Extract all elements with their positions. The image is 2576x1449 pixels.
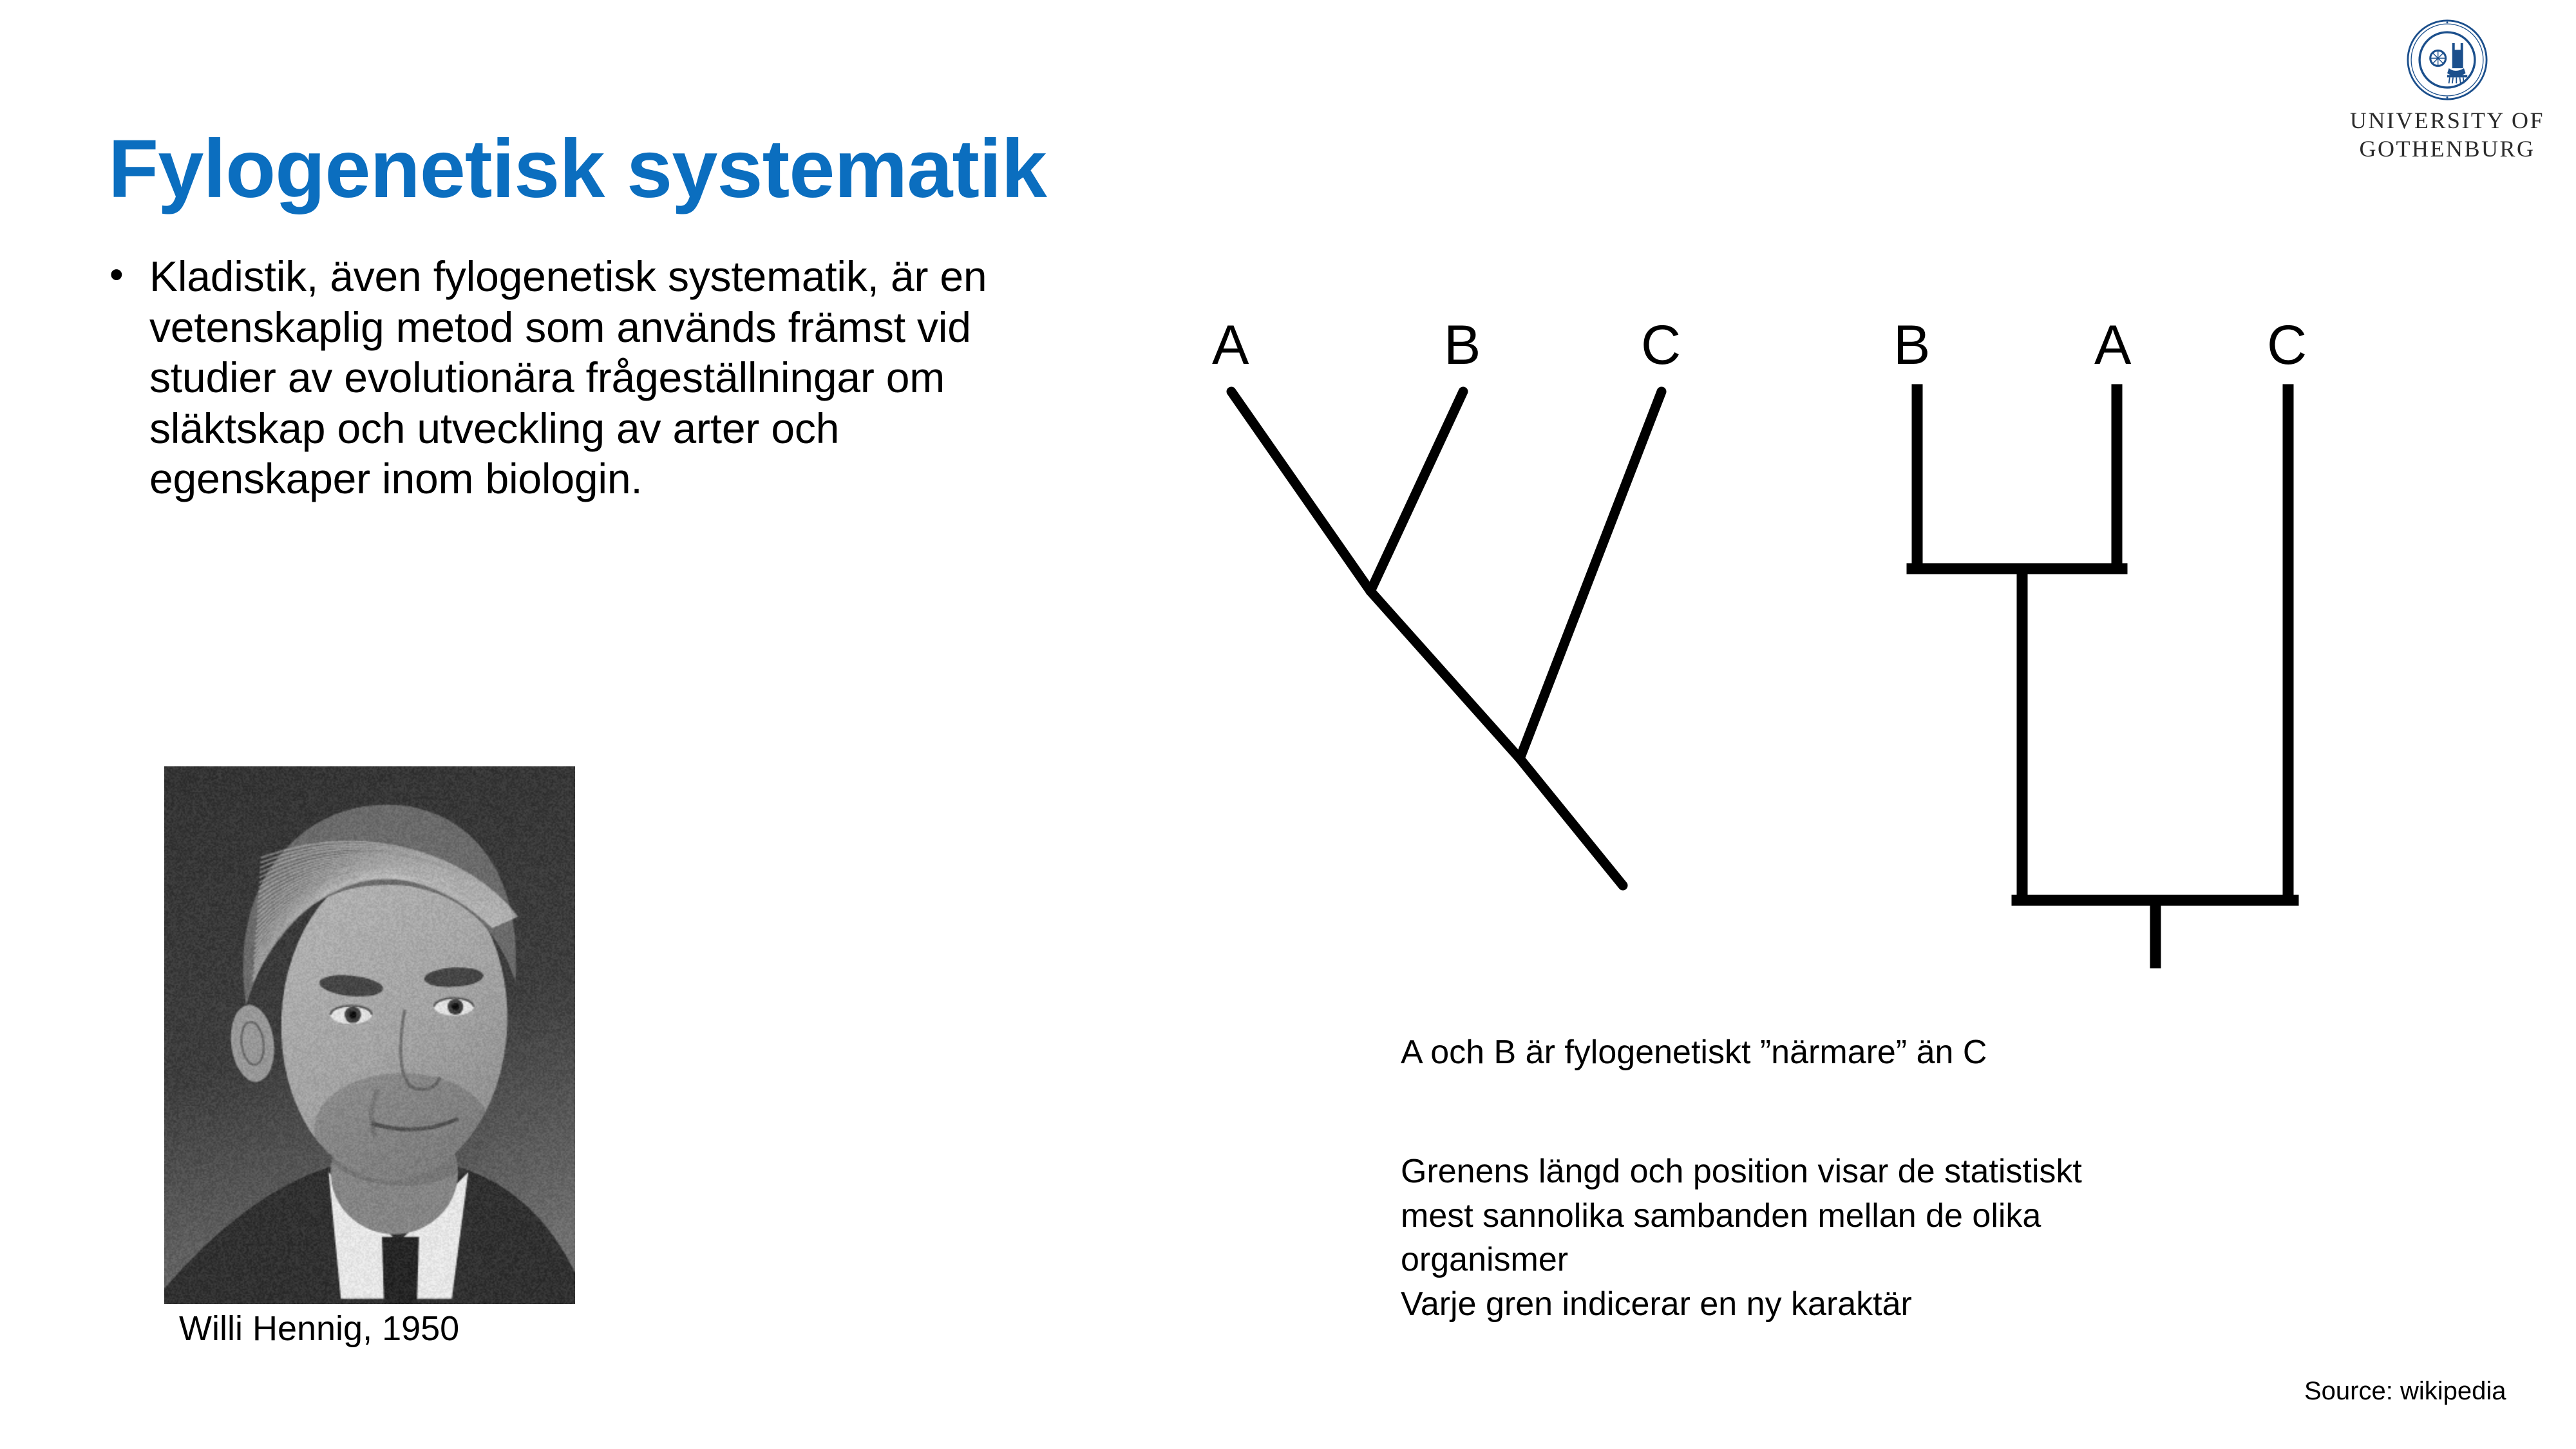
slide-canvas: Fylogenetisk systematik • Kladistik, äve… [0, 0, 2576, 1449]
willi-hennig-portrait [164, 766, 575, 1304]
note-line-1: Grenens längd och position visar de stat… [1401, 1150, 2367, 1194]
photo-caption: Willi Hennig, 1950 [179, 1309, 459, 1349]
page-title: Fylogenetisk systematik [108, 126, 1046, 213]
bullet-list-item: • Kladistik, även fylogenetisk systemati… [109, 251, 998, 504]
tip-label-left-C: C [1641, 316, 1681, 376]
right-tree-rectangular-dendrogram [1912, 390, 2293, 963]
tip-label-right-A: A [2094, 316, 2132, 376]
logo-line-1: UNIVERSITY OF [2344, 107, 2550, 135]
note-branch-explanation: Grenens längd och position visar de stat… [1401, 1150, 2367, 1327]
university-seal-icon [2405, 18, 2489, 102]
tip-label-left-B: B [1444, 316, 1481, 376]
branch-C [1520, 392, 1662, 759]
branch-AB [1370, 591, 1520, 759]
left-tree-diagonal-cladogram [1231, 392, 1662, 885]
branch-A [1231, 392, 1370, 591]
note-line-4: Varje gren indicerar en ny karaktär [1401, 1282, 2367, 1327]
branch-root [1520, 759, 1623, 885]
note-line-3: organismer [1401, 1238, 2367, 1282]
tip-label-left-A: A [1212, 316, 1249, 376]
source-credit: Source: wikipedia [2304, 1377, 2506, 1406]
note-relatedness: A och B är fylogenetiskt ”närmare” än C [1401, 1030, 1987, 1075]
bullet-marker-icon: • [109, 251, 149, 298]
university-logo: UNIVERSITY OF GOTHENBURG [2344, 18, 2550, 179]
portrait-image [164, 766, 575, 1304]
tip-label-right-B: B [1893, 316, 1930, 376]
branch-B [1370, 392, 1463, 591]
logo-line-2: GOTHENBURG [2344, 135, 2550, 164]
tip-label-right-C: C [2267, 316, 2307, 376]
body-text-block: • Kladistik, även fylogenetisk systemati… [109, 251, 998, 504]
bullet-item-text: Kladistik, även fylogenetisk systematik,… [149, 251, 998, 504]
university-logo-text: UNIVERSITY OF GOTHENBURG [2344, 107, 2550, 164]
note-line-2: mest sannolika sambanden mellan de olika [1401, 1194, 2367, 1238]
phylogenetic-tree-diagram: A B C B A C [1172, 316, 2331, 998]
